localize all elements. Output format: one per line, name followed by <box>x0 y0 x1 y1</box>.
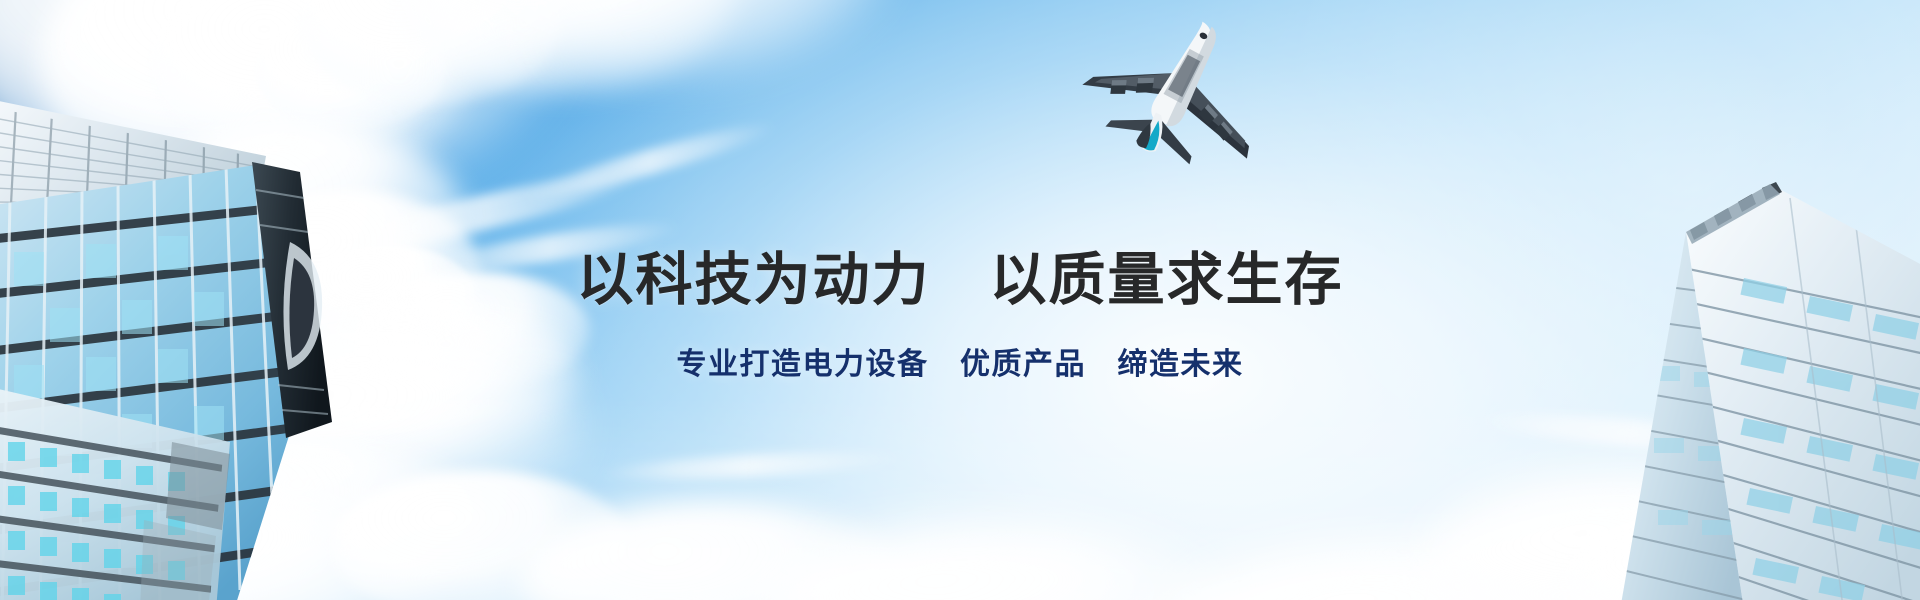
banner-copy: 以科技为动力 以质量求生存 专业打造电力设备 优质产品 缔造未来 <box>0 248 1920 383</box>
banner-headline: 以科技为动力 以质量求生存 <box>0 248 1920 313</box>
banner-subheading: 专业打造电力设备 优质产品 缔造未来 <box>0 347 1920 383</box>
hero-banner: 以科技为动力 以质量求生存 专业打造电力设备 优质产品 缔造未来 <box>0 0 1920 600</box>
